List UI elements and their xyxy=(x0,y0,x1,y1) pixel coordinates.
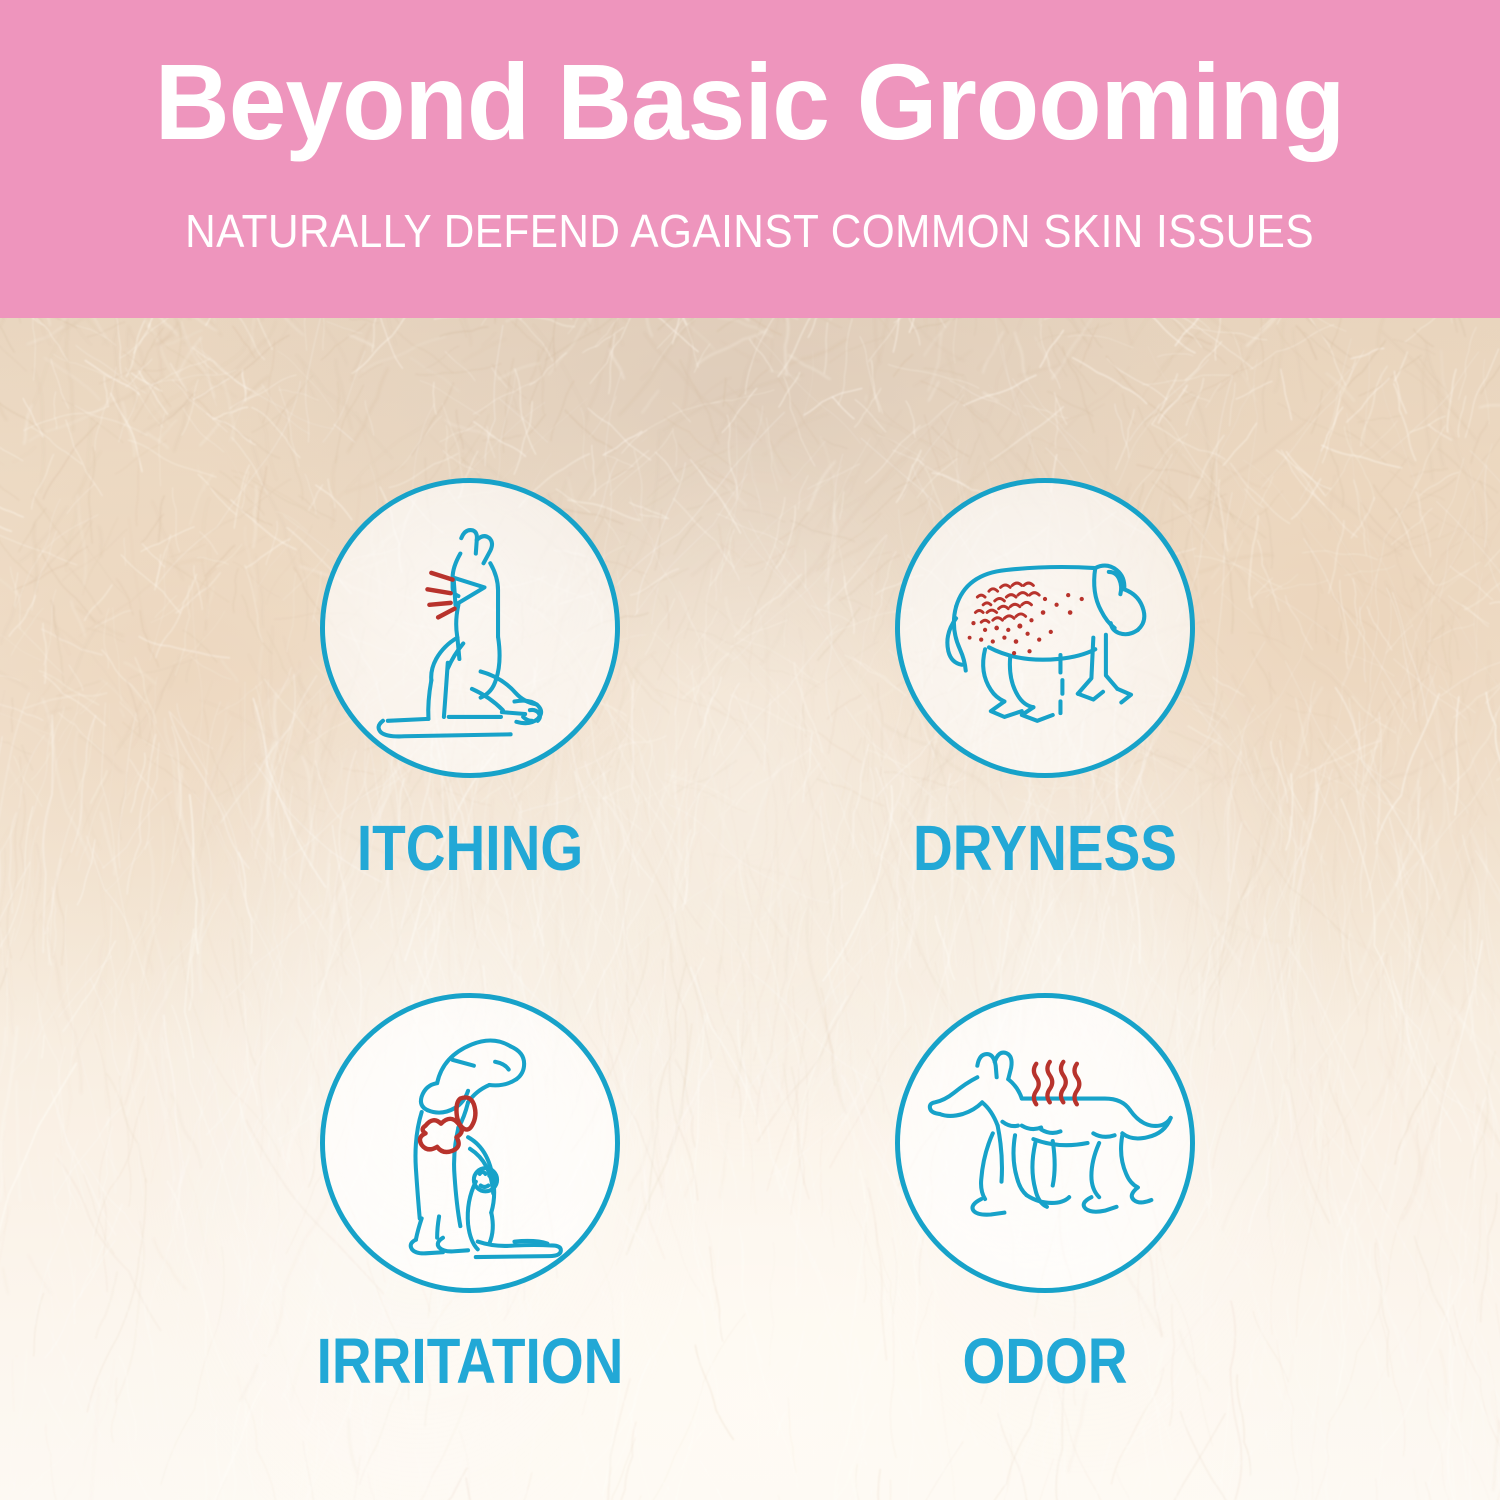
dog-scratching-icon xyxy=(325,483,615,773)
benefit-item-odor: ODOR xyxy=(745,993,1345,1393)
benefit-item-irritation: IRRITATION xyxy=(170,993,770,1393)
page-title: Beyond Basic Grooming xyxy=(155,0,1345,156)
dog-sitting-irritated-skin-icon xyxy=(325,998,615,1288)
benefit-badge-irritation xyxy=(320,993,620,1293)
benefit-badge-odor xyxy=(895,993,1195,1293)
infographic-page: Beyond Basic Grooming NATURALLY DEFEND A… xyxy=(0,0,1500,1500)
dandruff-flakes-marker xyxy=(968,583,1084,655)
benefit-item-dryness: DRYNESS xyxy=(745,478,1345,880)
benefits-grid: ITCHING xyxy=(0,318,1500,1500)
header-banner: Beyond Basic Grooming NATURALLY DEFEND A… xyxy=(0,0,1500,318)
page-subtitle: NATURALLY DEFEND AGAINST COMMON SKIN ISS… xyxy=(186,156,1315,258)
benefit-label-itching: ITCHING xyxy=(212,816,728,880)
benefit-item-itching: ITCHING xyxy=(170,478,770,880)
benefit-label-odor: ODOR xyxy=(787,1329,1303,1393)
dog-walking-icon xyxy=(900,998,1190,1288)
benefit-label-dryness: DRYNESS xyxy=(787,816,1303,880)
benefit-label-irritation: IRRITATION xyxy=(212,1329,728,1393)
benefit-badge-itching xyxy=(320,478,620,778)
itch-lines-marker xyxy=(427,573,454,617)
dog-dry-flaky-skin-icon xyxy=(900,483,1190,773)
benefit-badge-dryness xyxy=(895,478,1195,778)
